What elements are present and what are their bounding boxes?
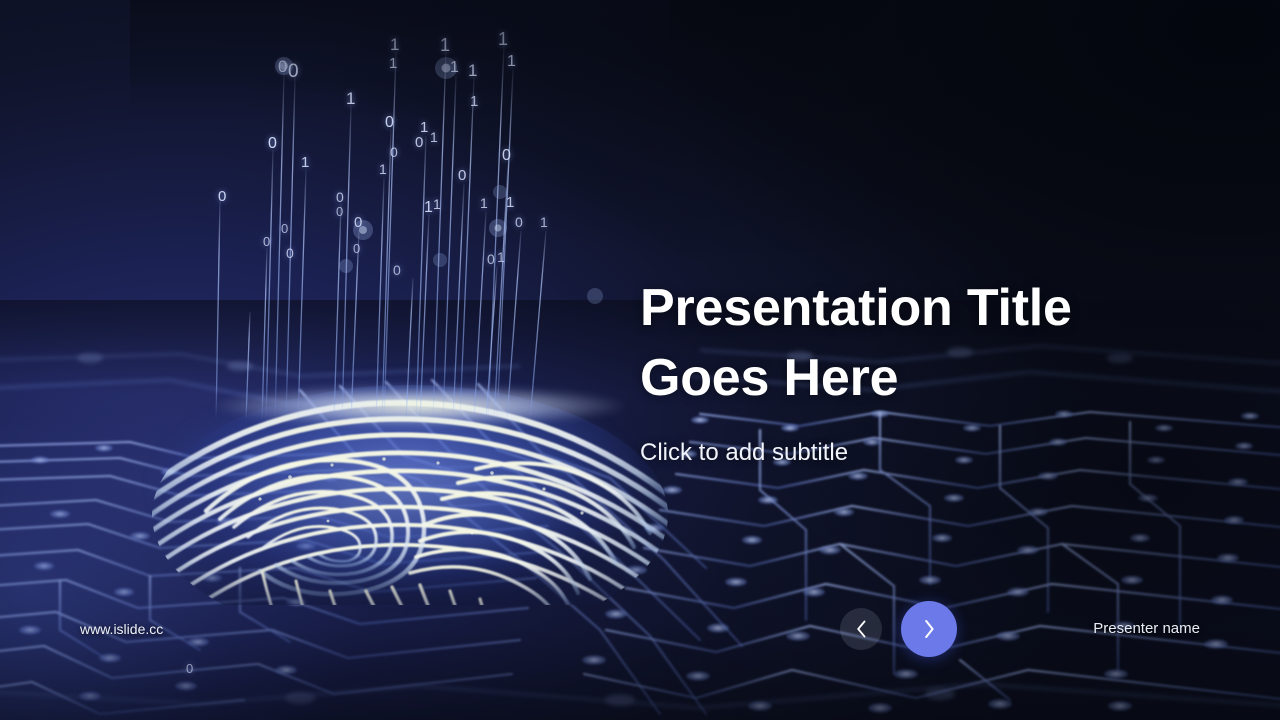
page-title[interactable]: Presentation Title Goes Here [640, 273, 1200, 413]
binary-digit: 0 [268, 136, 277, 152]
binary-digit: 0 [336, 190, 344, 204]
binary-digit: 0 [288, 62, 299, 81]
binary-digit: 0 [286, 246, 294, 260]
chevron-right-icon [923, 619, 935, 639]
binary-digit: 1 [420, 120, 428, 135]
binary-digit: 1 [390, 36, 399, 53]
binary-digit: 1 [497, 250, 505, 264]
binary-digit: 0 [515, 215, 523, 229]
binary-digit: 1 [506, 195, 514, 210]
binary-digit: 0 [458, 168, 466, 183]
binary-digit: 0 [281, 222, 288, 235]
binary-digit: 0 [186, 662, 193, 675]
binary-digit: 0 [354, 215, 362, 230]
binary-digit: 1 [346, 90, 355, 107]
next-slide-button[interactable] [901, 601, 957, 657]
binary-digit: 0 [218, 189, 226, 204]
binary-digit: 1 [433, 197, 441, 211]
binary-digit: 0 [502, 148, 511, 164]
binary-digit: 1 [440, 36, 450, 54]
binary-digit: 1 [507, 54, 516, 70]
binary-digit: 1 [450, 60, 459, 76]
binary-digit: 1 [389, 56, 397, 71]
binary-digit: 1 [424, 200, 433, 216]
binary-digit: 0 [336, 205, 343, 218]
binary-digit: 0 [393, 263, 401, 277]
binary-digit: 1 [540, 215, 548, 229]
binary-streak-lines [150, 0, 650, 420]
binary-digit: 1 [480, 196, 488, 210]
binary-digit: 1 [430, 130, 438, 144]
binary-digit: 1 [498, 30, 508, 48]
binary-digit: 0 [353, 242, 360, 255]
chevron-left-icon [856, 620, 867, 638]
presenter-name-label: Presenter name [1093, 620, 1200, 637]
binary-digit-rain: 000000001100001110001111011011101110101 [150, 0, 650, 420]
binary-digit: 1 [468, 62, 477, 79]
binary-digit: 0 [263, 235, 270, 248]
subtitle-text[interactable]: Click to add subtitle [640, 438, 848, 468]
binary-digit: 0 [385, 115, 394, 131]
binary-digit: 0 [278, 58, 287, 75]
website-label: www.islide.cc [80, 621, 163, 637]
binary-digit: 1 [470, 94, 478, 109]
presentation-slide: 000000001100001110001111011011101110101 … [0, 0, 1280, 720]
binary-digit: 1 [379, 162, 387, 176]
binary-digit: 1 [301, 155, 309, 170]
binary-digit: 0 [487, 252, 495, 266]
binary-digit: 0 [415, 135, 423, 150]
previous-slide-button[interactable] [840, 608, 882, 650]
binary-digit: 0 [390, 145, 398, 159]
